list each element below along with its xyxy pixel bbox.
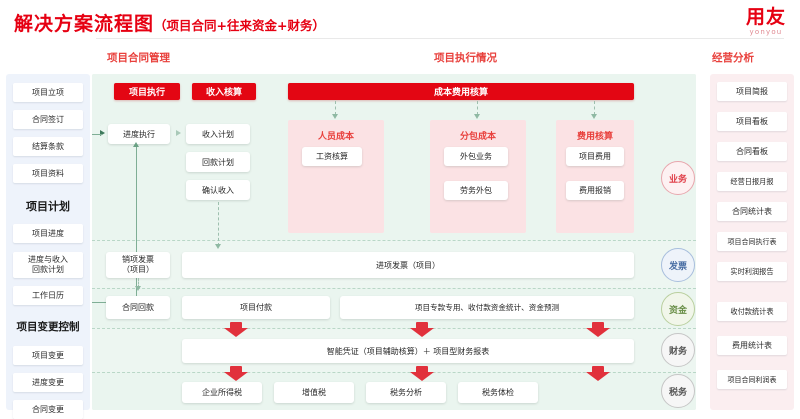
node-value-added-tax[interactable]: 增值税 bbox=[274, 382, 354, 403]
connector-return-vertical bbox=[136, 144, 137, 302]
arrow-finance-to-tax-1 bbox=[224, 366, 248, 381]
node-progress-execution[interactable]: 进度执行 bbox=[108, 124, 170, 144]
banner-revenue-accounting[interactable]: 收入核算 bbox=[192, 83, 256, 100]
node-tax-analysis[interactable]: 税务分析 bbox=[366, 382, 446, 403]
arrow-cost-to-expense bbox=[591, 114, 597, 119]
sidebar-item-contract-statistics[interactable]: 合同统计表 bbox=[717, 202, 787, 221]
sidebar-item-line2: 回款计划 bbox=[32, 265, 64, 275]
sidebar-item-contract-execution-table[interactable]: 项目合同执行表 bbox=[717, 232, 787, 251]
sidebar-right: 项目简报 项目看板 合同看板 经营日报月报 合同统计表 项目合同执行表 实时利润… bbox=[710, 74, 794, 410]
arrow-funds-to-finance-1 bbox=[224, 322, 248, 337]
sidebar-item-expense-statistics[interactable]: 费用统计表 bbox=[717, 336, 787, 355]
sidebar-item-contract-dashboard[interactable]: 合同看板 bbox=[717, 142, 787, 161]
flow-canvas: 项目执行 收入核算 成本费用核算 人员成本 分包成本 费用核算 工资核算 外包业… bbox=[92, 74, 696, 410]
badge-funds: 资金 bbox=[661, 292, 695, 326]
sidebar-item-work-calendar[interactable]: 工作日历 bbox=[13, 286, 83, 305]
connector-revenue-to-invoice bbox=[218, 202, 219, 246]
page-title: 解决方案流程图（项目合同+往来资金+财务） bbox=[14, 9, 325, 36]
node-salary-accounting[interactable]: 工资核算 bbox=[302, 147, 362, 166]
connector-cost-to-personnel bbox=[335, 101, 336, 115]
banner-cost-expense-accounting[interactable]: 成本费用核算 bbox=[288, 83, 634, 100]
arrow-progress-to-revenue bbox=[176, 130, 181, 136]
node-outsourcing-business[interactable]: 外包业务 bbox=[444, 147, 508, 166]
arrow-cost-to-personnel bbox=[332, 114, 338, 119]
node-corporate-income-tax[interactable]: 企业所得税 bbox=[182, 382, 262, 403]
node-output-invoice-line2: （项目） bbox=[122, 265, 154, 275]
header-divider bbox=[96, 38, 784, 39]
sidebar-item-project-progress[interactable]: 项目进度 bbox=[13, 224, 83, 243]
sidebar-item-contract-signing[interactable]: 合同签订 bbox=[13, 110, 83, 129]
logo-text-zh: 用友 bbox=[746, 8, 786, 27]
caption-contract-management: 项目合同管理 bbox=[107, 50, 170, 65]
node-smart-voucher-and-reports[interactable]: 智能凭证（项目辅助核算）＋ 项目型财务报表 bbox=[182, 339, 634, 363]
cost-column-title-personnel: 人员成本 bbox=[288, 129, 384, 142]
sidebar-item-contract-profit-table[interactable]: 项目合同利润表 bbox=[717, 370, 787, 389]
lane-divider-invoice bbox=[92, 240, 696, 241]
sidebar-item-progress-change[interactable]: 进度变更 bbox=[13, 373, 83, 392]
connector-cost-to-subcontract bbox=[477, 101, 478, 115]
node-tax-checkup[interactable]: 税务体检 bbox=[458, 382, 538, 403]
node-input-invoice[interactable]: 进项发票（项目） bbox=[182, 252, 634, 278]
arrow-finance-to-tax-3 bbox=[586, 366, 610, 381]
arrow-return-to-progress bbox=[133, 142, 139, 147]
badge-finance: 财务 bbox=[661, 333, 695, 367]
page-title-sub: （项目合同+往来资金+财务） bbox=[154, 18, 325, 33]
node-output-invoice[interactable]: 销项发票 （项目） bbox=[106, 252, 170, 278]
sidebar-item-progress-revenue-collection-plan[interactable]: 进度与收入 回款计划 bbox=[13, 252, 83, 278]
node-revenue-plan[interactable]: 收入计划 bbox=[186, 124, 250, 144]
caption-project-execution: 项目执行情况 bbox=[434, 50, 497, 65]
banner-project-execution[interactable]: 项目执行 bbox=[114, 83, 180, 100]
cost-column-title-subcontract: 分包成本 bbox=[430, 129, 526, 142]
lane-divider-funds bbox=[92, 288, 696, 289]
logo-text-en: yonyou bbox=[746, 29, 786, 36]
node-project-payment[interactable]: 项目付款 bbox=[182, 296, 330, 319]
node-expense-reimbursement[interactable]: 费用报销 bbox=[566, 181, 624, 200]
yonyou-logo: 用友 yonyou bbox=[746, 8, 786, 36]
sidebar-item-project-briefing[interactable]: 项目简报 bbox=[717, 82, 787, 101]
sidebar-item-realtime-profit-report[interactable]: 实时利润报告 bbox=[717, 262, 787, 281]
sidebar-group-title-change-control: 项目变更控制 bbox=[6, 319, 90, 334]
sidebar-item-line1: 进度与收入 bbox=[28, 255, 68, 265]
caption-business-analysis: 经营分析 bbox=[712, 50, 754, 65]
sidebar-item-project-initiation[interactable]: 项目立项 bbox=[13, 83, 83, 102]
node-confirm-revenue[interactable]: 确认收入 bbox=[186, 180, 250, 200]
node-project-expense[interactable]: 项目费用 bbox=[566, 147, 624, 166]
sidebar-item-project-change[interactable]: 项目变更 bbox=[13, 346, 83, 365]
badge-tax: 税务 bbox=[661, 374, 695, 408]
page-title-main: 解决方案流程图 bbox=[14, 13, 154, 35]
node-contract-collection[interactable]: 合同回款 bbox=[106, 296, 170, 319]
badge-invoice: 发票 bbox=[661, 248, 695, 282]
sidebar-item-project-documents[interactable]: 项目资料 bbox=[13, 164, 83, 183]
sidebar-item-project-dashboard[interactable]: 项目看板 bbox=[717, 112, 787, 131]
node-labor-outsourcing[interactable]: 劳务外包 bbox=[444, 181, 508, 200]
arrow-funds-to-finance-2 bbox=[410, 322, 434, 337]
sidebar-item-daily-monthly-report[interactable]: 经营日报月报 bbox=[717, 172, 787, 191]
node-output-invoice-line1: 销项发票 bbox=[122, 255, 154, 265]
arrow-funds-to-finance-3 bbox=[586, 322, 610, 337]
arrow-finance-to-tax-2 bbox=[410, 366, 434, 381]
arrow-invoice-to-funds bbox=[135, 286, 141, 291]
arrow-cost-to-subcontract bbox=[474, 114, 480, 119]
arrow-revenue-to-invoice bbox=[215, 244, 221, 249]
badge-business: 业务 bbox=[661, 161, 695, 195]
sidebar-item-settlement-terms[interactable]: 结算条款 bbox=[13, 137, 83, 156]
connector-cost-to-expense bbox=[594, 101, 595, 115]
sidebar-left: 项目立项 合同签订 结算条款 项目资料 项目计划 项目进度 进度与收入 回款计划… bbox=[6, 74, 90, 410]
sidebar-item-payment-statistics[interactable]: 收付款统计表 bbox=[717, 302, 787, 321]
sidebar-item-contract-change[interactable]: 合同变更 bbox=[13, 400, 83, 419]
connector-into-progress bbox=[92, 134, 102, 135]
node-fund-management[interactable]: 项目专款专用、收付款资金统计、资金预测 bbox=[340, 296, 634, 319]
sidebar-group-title-project-plan: 项目计划 bbox=[6, 198, 90, 214]
solution-flowchart-page: 解决方案流程图（项目合同+往来资金+财务） 用友 yonyou 项目合同管理 项… bbox=[0, 0, 800, 414]
cost-column-title-expense: 费用核算 bbox=[556, 129, 634, 142]
node-collection-plan[interactable]: 回款计划 bbox=[186, 152, 250, 172]
